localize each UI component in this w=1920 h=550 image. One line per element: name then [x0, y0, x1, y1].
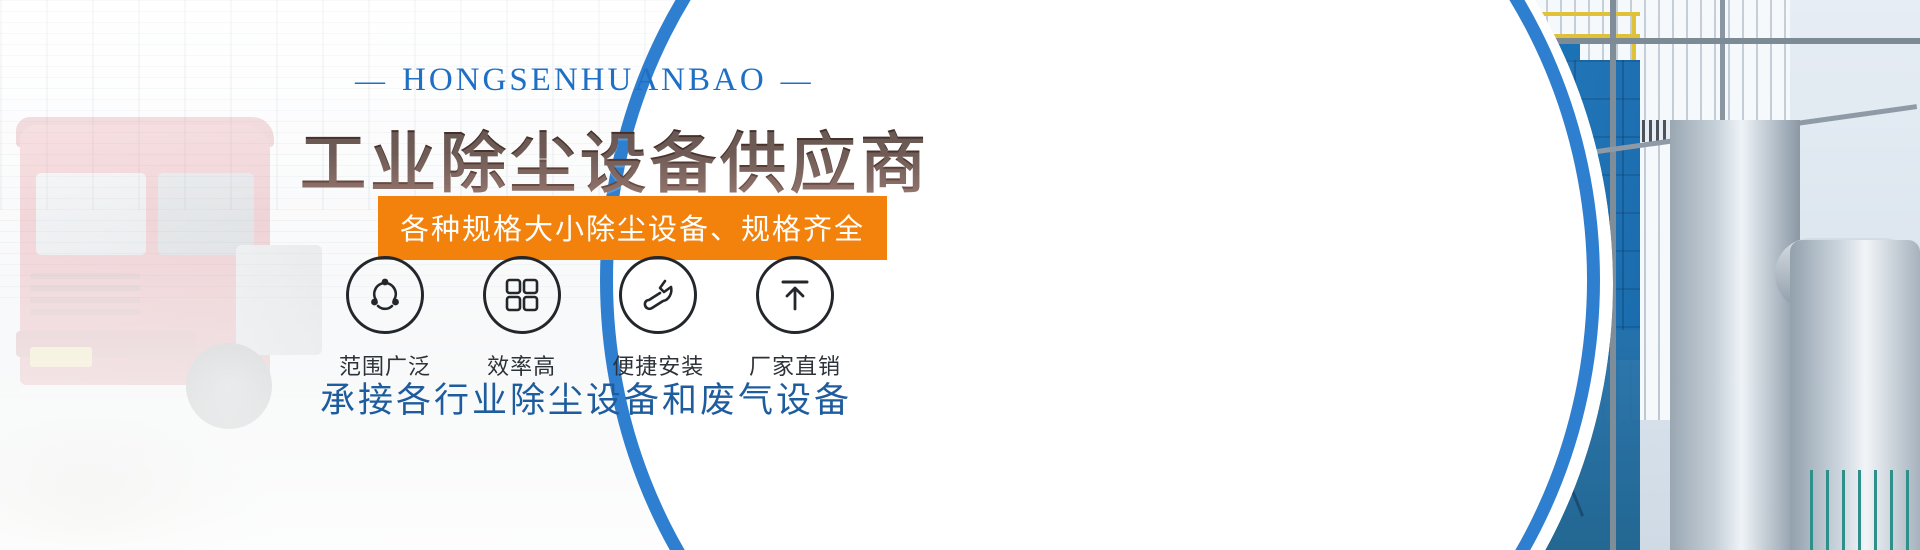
photo-green-fence — [1810, 470, 1920, 550]
share-network-icon — [346, 256, 424, 334]
feature-item-wide-range[interactable]: 范围广泛 — [330, 256, 440, 381]
photo-steel-beam — [1550, 38, 1920, 44]
eyebrow-dash-left: — — [355, 66, 388, 96]
photo-support-structure — [1040, 330, 1640, 550]
grid-four-squares-icon — [483, 256, 561, 334]
eyebrow-text: HONGSENHUANBAO — [402, 62, 767, 99]
photo-caged-ladder — [1245, 0, 1301, 550]
photo-steel-column — [1610, 0, 1616, 550]
page-title: 工业除尘设备供应商 — [300, 110, 930, 206]
hero-banner: — HONGSENHUANBAO — 工业除尘设备供应商 各种规格大小除尘设备、… — [0, 0, 1920, 550]
feature-item-high-efficiency[interactable]: 效率高 — [467, 256, 577, 381]
photo-silver-stack — [1670, 120, 1800, 550]
arrow-up-bar-icon — [756, 256, 834, 334]
wrench-icon — [619, 256, 697, 334]
eyebrow-dash-right: — — [781, 66, 814, 96]
bottom-slogan: 承接各行业除尘设备和废气设备 — [320, 372, 852, 423]
feature-list: 范围广泛 效率高 — [330, 256, 850, 381]
subtitle-orange-banner: 各种规格大小除尘设备、规格齐全 — [378, 196, 887, 260]
photo-top-railing — [1020, 12, 1640, 60]
hero-content: — HONGSENHUANBAO — 工业除尘设备供应商 各种规格大小除尘设备、… — [0, 0, 900, 550]
eyebrow-line: — HONGSENHUANBAO — — [355, 62, 775, 99]
feature-item-factory-direct[interactable]: 厂家直销 — [740, 256, 850, 381]
photo-baghouse-secondary-body — [1430, 60, 1640, 360]
feature-item-easy-install[interactable]: 便捷安装 — [603, 256, 713, 381]
